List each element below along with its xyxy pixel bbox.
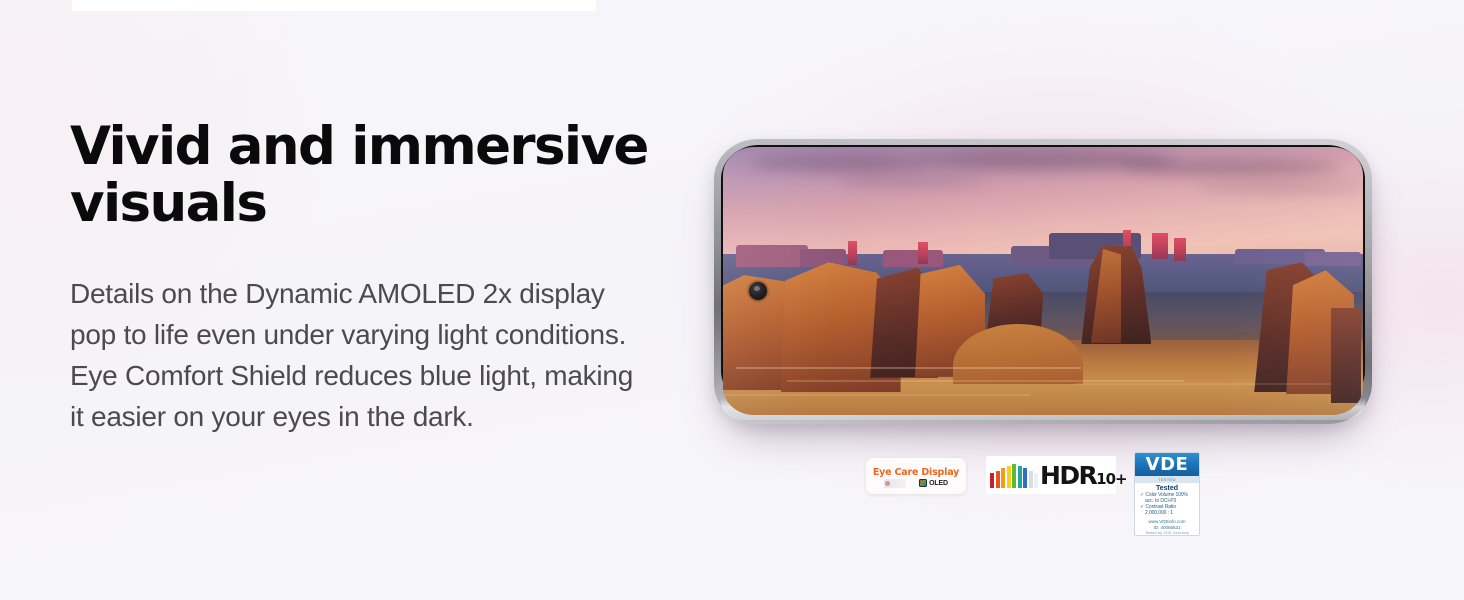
hdr-plus-text: + bbox=[1115, 470, 1126, 488]
butte bbox=[848, 241, 857, 265]
vde-header: VDE bbox=[1135, 453, 1199, 476]
vde-spec-line: 2.000.000 : 1 bbox=[1135, 510, 1199, 516]
mesa bbox=[800, 249, 846, 267]
hdr-ten-text: 10 bbox=[1096, 470, 1115, 488]
hdr-gradient-bars-icon bbox=[990, 463, 1038, 488]
front-camera-punch-hole bbox=[749, 282, 767, 300]
wallpaper-desert-landscape bbox=[723, 147, 1363, 415]
top-white-strip bbox=[72, 0, 596, 11]
strata-line bbox=[723, 394, 1030, 396]
mesa bbox=[883, 250, 943, 267]
phone-screen bbox=[723, 147, 1363, 415]
vde-tested-heading: Tested bbox=[1156, 485, 1178, 492]
hdr-wordmark: HDR10+ bbox=[1040, 463, 1126, 488]
badge-hdr10plus: HDR10+ bbox=[986, 456, 1116, 494]
butte bbox=[1174, 238, 1186, 261]
oled-label: OLED bbox=[929, 480, 948, 487]
oled-color-square-icon bbox=[919, 479, 927, 487]
butte bbox=[918, 242, 928, 264]
copy-block: Vivid and immersive visuals Details on t… bbox=[70, 118, 670, 437]
strata-line bbox=[1075, 383, 1331, 385]
camera-glint bbox=[754, 286, 760, 291]
cloud bbox=[749, 155, 929, 171]
sgs-certification-icon bbox=[884, 479, 906, 488]
eye-care-display-label: Eye Care Display bbox=[873, 467, 959, 478]
vde-footer: www.VDEinfo.com ID. 40056631 Tested by V… bbox=[1135, 519, 1199, 535]
hdr-text: HDR bbox=[1040, 461, 1096, 490]
mesa bbox=[736, 245, 808, 267]
mesa bbox=[1305, 252, 1361, 266]
vde-tested-by: Tested by VDE Germany bbox=[1135, 530, 1199, 535]
cloud bbox=[1197, 182, 1363, 193]
vde-wordmark: VDE bbox=[1146, 454, 1189, 475]
phone-device bbox=[714, 139, 1372, 424]
eye-care-sublogos: OLED bbox=[884, 479, 948, 488]
badge-vde-certification: VDE TESTED Tested ✓ Color Volume 100% ac… bbox=[1134, 452, 1200, 536]
certification-badges: Eye Care Display OLED bbox=[866, 452, 1206, 542]
oled-certification-logo: OLED bbox=[919, 479, 948, 487]
promo-section: Vivid and immersive visuals Details on t… bbox=[0, 0, 1464, 600]
foreground-rock-dark bbox=[1331, 308, 1361, 403]
butte bbox=[1152, 233, 1168, 259]
badge-eye-care-display: Eye Care Display OLED bbox=[866, 458, 966, 494]
body-paragraph: Details on the Dynamic AMOLED 2x display… bbox=[70, 273, 645, 437]
sgs-mark-icon bbox=[884, 479, 906, 488]
strata-line bbox=[736, 367, 1082, 369]
page-title: Vivid and immersive visuals bbox=[70, 118, 670, 232]
vde-subtitle: TESTED bbox=[1135, 476, 1199, 483]
